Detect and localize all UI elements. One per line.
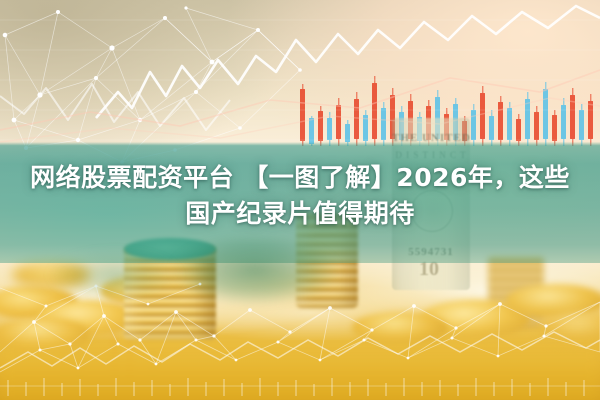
- headline-line-2: 国产纪录片值得期待: [0, 196, 600, 232]
- banner-image: THE UNITED D I S T I N C T 5594731 10: [0, 0, 600, 400]
- green-foliage-blur-2: [30, 240, 200, 310]
- headline-line-1: 网络股票配资平台 【一图了解】2026年，这些: [0, 160, 600, 196]
- headline-text: 网络股票配资平台 【一图了解】2026年，这些 国产纪录片值得期待: [0, 160, 600, 232]
